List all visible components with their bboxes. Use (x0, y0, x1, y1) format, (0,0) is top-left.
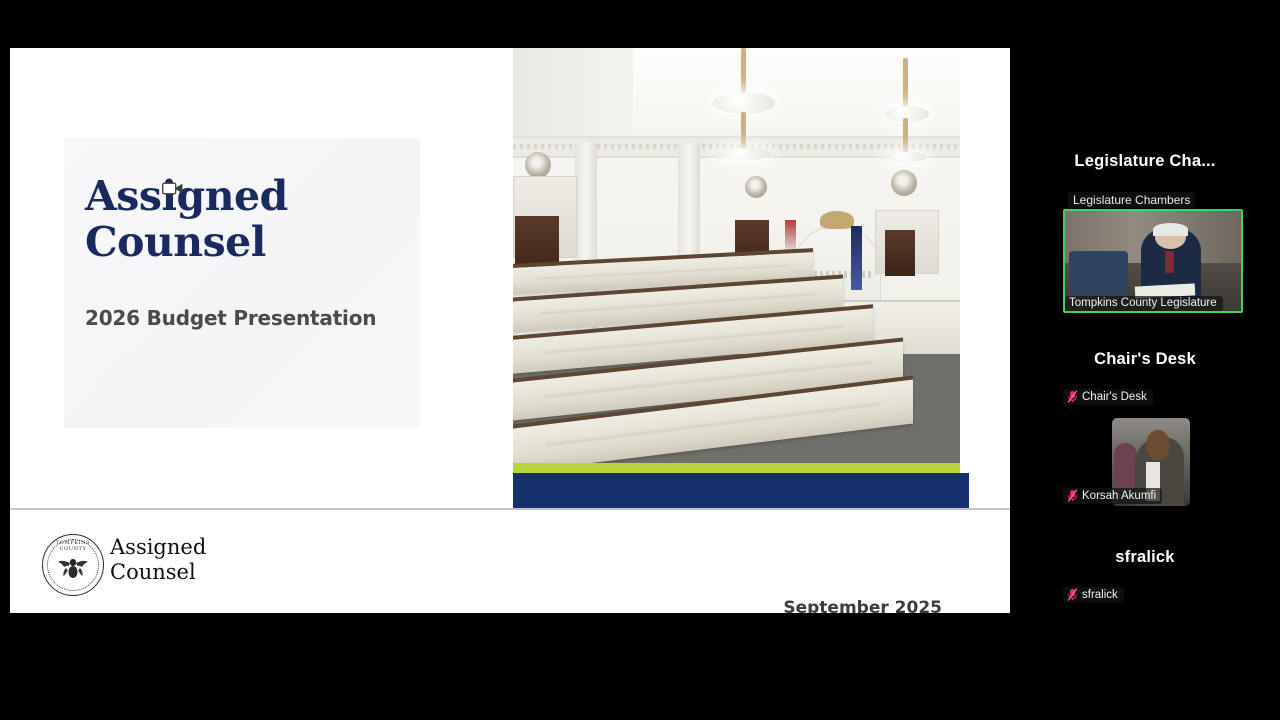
state-flag (851, 226, 862, 290)
video-camera-icon (162, 181, 184, 196)
participant-name-badge: Korsah Akumfi (1063, 488, 1162, 504)
chair (1069, 251, 1129, 296)
slide-title-line2: Counsel (85, 219, 415, 265)
muted-microphone-icon (1067, 390, 1078, 403)
wall-clock (525, 152, 551, 178)
wall-medallion (891, 170, 917, 196)
speaker-tie (1165, 251, 1174, 273)
slide-navy-band (513, 473, 969, 513)
group-title-sfralick: sfralick (1010, 548, 1280, 567)
participant-tile-sfralick[interactable]: sfralick (1063, 587, 1124, 606)
footer-org-line1: Assigned (110, 535, 206, 560)
chandelier-stem (903, 118, 908, 156)
speaker-hair (1153, 223, 1188, 236)
participant-name: Chair's Desk (1082, 391, 1147, 403)
chamber-video-embed (513, 48, 960, 463)
slide-title: Assigned Counsel (85, 173, 415, 265)
participant-name: Tompkins County Legislature (1069, 297, 1217, 309)
participant-name-badge: Tompkins County Legislature (1065, 296, 1223, 311)
slide-footer: TOMPKINS COUNTY Assigned Counsel Septemb… (10, 510, 1010, 613)
chandelier-lower (885, 152, 927, 162)
participant-name: Korsah Akumfi (1082, 490, 1156, 502)
participant-name-row-korsah-akumfi[interactable]: Korsah Akumfi (1063, 488, 1162, 507)
slide-canvas: Assigned Counsel 2026 Budget Presentatio… (10, 48, 1010, 508)
slide-title-line1: Assigned (85, 173, 415, 219)
wall-medallion (745, 176, 767, 198)
slide-accent-stripe (513, 463, 960, 473)
footer-org-line2: Counsel (110, 560, 206, 585)
chandelier-rod (741, 48, 746, 96)
meeting-window: Assigned Counsel 2026 Budget Presentatio… (0, 0, 1280, 720)
participant-name-badge: Chair's Desk (1063, 389, 1153, 405)
participants-sidebar[interactable]: Legislature Cha... Legislature Chambers … (1010, 0, 1280, 720)
chandelier-bowl (713, 92, 775, 114)
video-background (1114, 443, 1137, 489)
label-legislature-chambers: Legislature Chambers (1068, 192, 1195, 208)
participant-name-badge: sfralick (1063, 587, 1124, 603)
tompkins-county-seal-icon: TOMPKINS COUNTY (42, 534, 104, 596)
group-title-legislature-chambers: Legislature Cha... (1010, 152, 1280, 171)
speaker-head (1146, 430, 1169, 460)
presentation-date: September 2025 (783, 598, 942, 613)
muted-microphone-icon (1067, 489, 1078, 502)
eagle-icon (56, 553, 90, 581)
shared-screen-presentation[interactable]: Assigned Counsel 2026 Budget Presentatio… (10, 48, 1010, 613)
footer-org-name: Assigned Counsel (110, 535, 206, 585)
participant-tile-chairs-desk[interactable]: Chair's Desk (1063, 389, 1153, 408)
seal-text: TOMPKINS COUNTY (43, 540, 103, 552)
slide-subtitle: 2026 Budget Presentation (85, 306, 425, 330)
muted-microphone-icon (1067, 588, 1078, 601)
group-title-chairs-desk: Chair's Desk (1010, 350, 1280, 369)
door-right (885, 230, 915, 276)
chandelier-lower (717, 148, 771, 160)
participant-tile-legislature-chambers[interactable]: Tompkins County Legislature (1063, 209, 1243, 313)
participant-name: sfralick (1082, 589, 1118, 601)
